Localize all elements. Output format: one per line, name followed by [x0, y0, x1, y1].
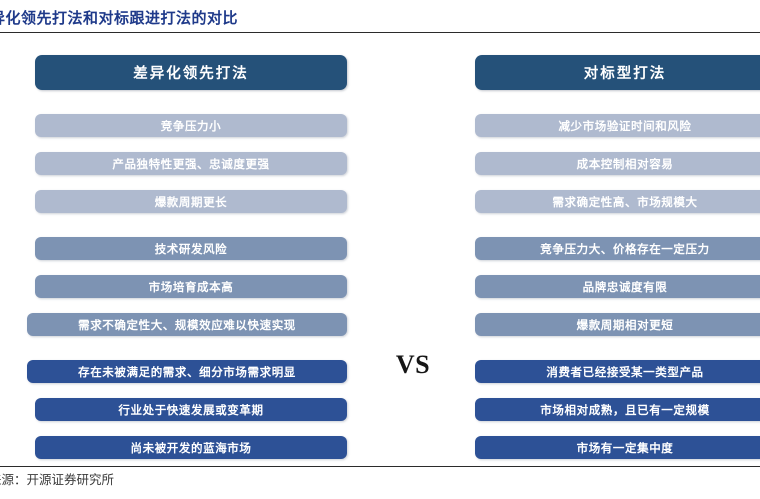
source-note: 资料来源：开源证券研究所	[0, 471, 114, 489]
pill-diff-g2-1: 技术研发风险	[35, 237, 347, 260]
pill-bench-g3-2: 市场相对成熟，且已有一定规模	[475, 398, 760, 421]
pill-diff-g3-2: 行业处于快速发展或变革期	[35, 398, 347, 421]
pill-diff-g1-2: 产品独特性更强、忠诚度更强	[35, 152, 347, 175]
title-divider	[0, 32, 760, 33]
pill-diff-g1-3: 爆款周期更长	[35, 190, 347, 213]
page-title: 异化领先打法和对标跟进打法的对比	[0, 8, 238, 30]
pill-bench-g1-3: 需求确定性高、市场规模大	[475, 190, 760, 213]
pill-bench-g3-1: 消费者已经接受某一类型产品	[475, 360, 760, 383]
pill-diff-g3-3: 尚未被开发的蓝海市场	[35, 436, 347, 459]
pill-bench-g2-1: 竞争压力大、价格存在一定压力	[475, 237, 760, 260]
pill-bench-g3-3: 市场有一定集中度	[475, 436, 760, 459]
vs-separator-label: VS	[383, 350, 443, 380]
pill-diff-g1-1: 竞争压力小	[35, 114, 347, 137]
comparison-board: 差异化领先打法 竞争压力小产品独特性更强、忠诚度更强爆款周期更长技术研发风险市场…	[0, 52, 760, 462]
pill-bench-g1-1: 减少市场验证时间和风险	[475, 114, 760, 137]
footer-divider	[0, 466, 760, 467]
column-header-benchmark: 对标型打法	[475, 55, 760, 90]
column-header-differentiated: 差异化领先打法	[35, 55, 347, 90]
pill-diff-g2-2: 市场培育成本高	[35, 275, 347, 298]
pill-bench-g2-3: 爆款周期相对更短	[475, 313, 760, 336]
title-area: 异化领先打法和对标跟进打法的对比	[0, 8, 760, 34]
column-differentiated: 差异化领先打法 竞争压力小产品独特性更强、忠诚度更强爆款周期更长技术研发风险市场…	[27, 52, 347, 462]
pill-bench-g1-2: 成本控制相对容易	[475, 152, 760, 175]
pill-bench-g2-2: 品牌忠诚度有限	[475, 275, 760, 298]
pill-diff-g2-3: 需求不确定性大、规模效应难以快速实现	[27, 313, 347, 336]
pill-diff-g3-1: 存在未被满足的需求、细分市场需求明显	[27, 360, 347, 383]
column-benchmark: 对标型打法 减少市场验证时间和风险成本控制相对容易需求确定性高、市场规模大竞争压…	[467, 52, 760, 462]
